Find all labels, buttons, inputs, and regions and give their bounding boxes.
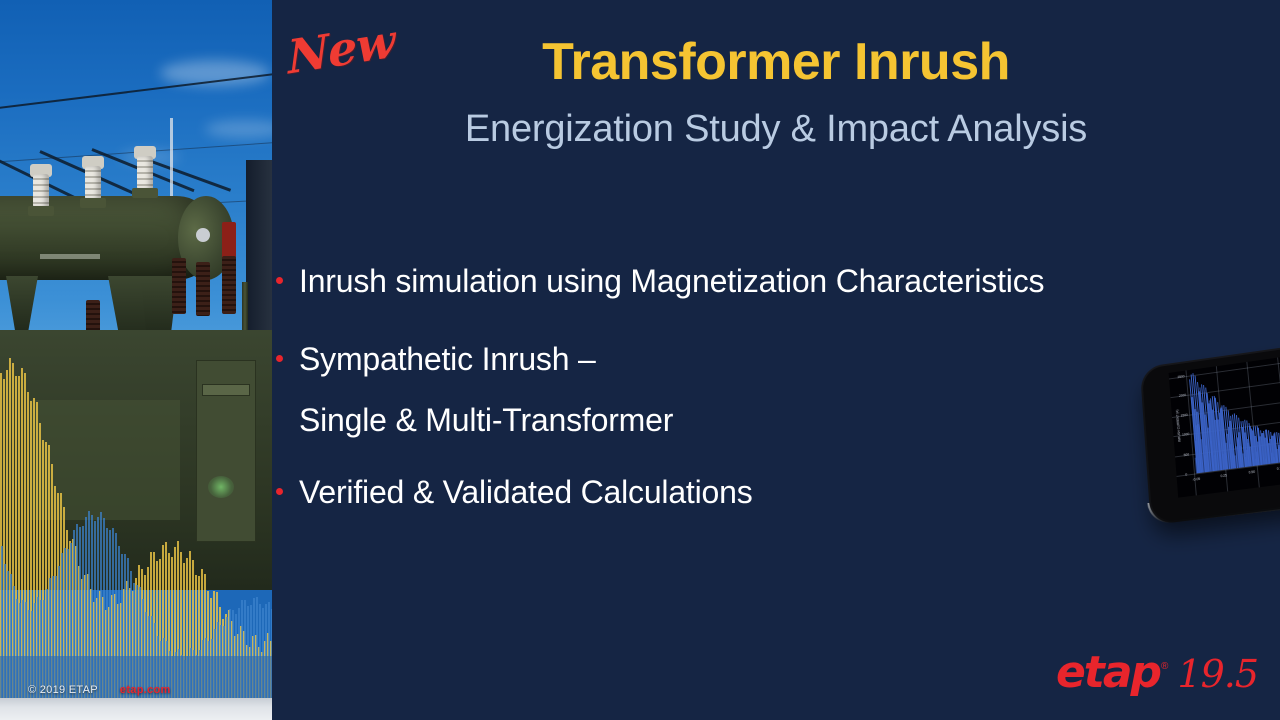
list-item-line: Verified & Validated Calculations (299, 474, 753, 510)
etap-logo: etap ® 19.5 (1056, 647, 1258, 698)
list-item-text: Verified & Validated Calculations (299, 469, 753, 515)
page-subtitle: Energization Study & Impact Analysis (272, 108, 1280, 151)
list-item-line: Single & Multi-Transformer (299, 397, 673, 443)
list-item-text: Sympathetic Inrush – Single & Multi-Tran… (299, 336, 673, 443)
waveform-overlay (0, 290, 272, 700)
device-frame: ETAP Inrush INRUSH CURRENT (A) TIME (SEC… (1142, 322, 1280, 523)
chart-x-tick-label: 0.25 (1220, 473, 1227, 478)
hv-bushing (82, 156, 104, 208)
chart-x-tick-label: -0.05 (1192, 477, 1200, 482)
lightning-arrester-rod (170, 118, 173, 198)
list-item-line: Sympathetic Inrush – (299, 341, 596, 377)
trademark-icon: ® (1161, 661, 1168, 672)
bullet-list: Inrush simulation using Magnetization Ch… (272, 258, 1280, 548)
chart-x-tick-label: 0.50 (1248, 470, 1255, 475)
etap-wordmark: etap (1056, 647, 1160, 698)
bullet-dot-icon (276, 355, 283, 362)
slide-content: New Transformer Inrush Energization Stud… (272, 0, 1280, 720)
chart-y-tick-label: 2500 (1177, 374, 1184, 379)
bullet-dot-icon (276, 277, 283, 284)
slide-root: © 2019 ETAPetap.com New Transformer Inru… (0, 0, 1280, 720)
list-item: Sympathetic Inrush – Single & Multi-Tran… (272, 336, 1280, 443)
hv-bushing (134, 146, 156, 198)
copyright-notice: © 2019 ETAPetap.com (28, 684, 171, 696)
ground-strip (0, 698, 272, 720)
chart-x-tick-label: 0.75 (1277, 466, 1280, 471)
chart-y-tick-label: 500 (1184, 452, 1190, 457)
list-item: Inrush simulation using Magnetization Ch… (272, 258, 1280, 304)
page-title: Transformer Inrush (272, 32, 1280, 92)
etap-url: etap.com (120, 684, 171, 696)
chart-y-tick-label: 2000 (1179, 394, 1186, 399)
copyright-text: © 2019 ETAP (28, 684, 98, 696)
chart-y-tick-label: 0 (1185, 473, 1187, 477)
hv-bushing (30, 164, 52, 216)
list-item-line: Inrush simulation using Magnetization Ch… (299, 263, 1044, 299)
list-item: Verified & Validated Calculations (272, 469, 1280, 515)
inrush-chart: ETAP Inrush INRUSH CURRENT (A) TIME (SEC… (1169, 330, 1280, 497)
tank-nameplate (40, 254, 100, 259)
bullet-dot-icon (276, 488, 283, 495)
version-label: 19.5 (1177, 652, 1258, 696)
list-item-text: Inrush simulation using Magnetization Ch… (299, 258, 1044, 304)
substation-photo: © 2019 ETAPetap.com (0, 0, 272, 720)
chart-y-tick-label: 1500 (1180, 413, 1188, 418)
chart-y-tick-label: 1000 (1182, 432, 1190, 437)
gauge (196, 228, 210, 242)
tablet-device-mockup: ETAP Inrush INRUSH CURRENT (A) TIME (SEC… (1134, 338, 1280, 528)
